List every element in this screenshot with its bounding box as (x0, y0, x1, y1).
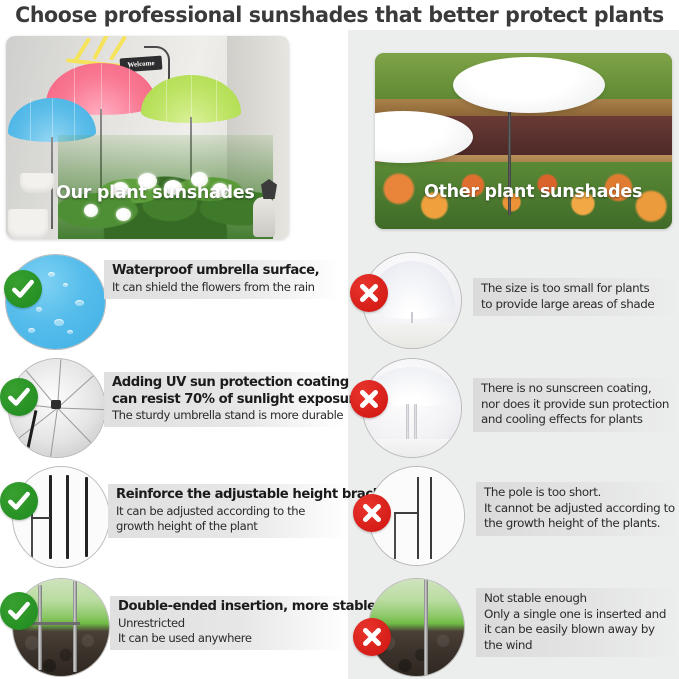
row-3-good-sub: It can be adjusted according to the (116, 504, 342, 519)
row-4-bad-line-2: Only a single one is inserted and (484, 607, 673, 623)
page-title: Choose professional sunshades that bette… (15, 1, 663, 30)
cross-icon (350, 274, 388, 312)
flower-pot (20, 173, 54, 193)
cross-icon (353, 494, 391, 532)
row-2-bad-line-3: and cooling effects for plants (481, 412, 673, 428)
row-2-bad-line-1: There is no sunscreen coating, (481, 381, 673, 397)
hero-image-our-sunshades: Welcome (6, 36, 289, 239)
row-1-good-text: Waterproof umbrella surface, It can shie… (104, 260, 340, 299)
row-2-good-heading-2: can resist 70% of sunlight exposure, (112, 392, 338, 409)
white-shade-disc (453, 57, 605, 113)
row-3-good-sub-2: growth height of the plant (116, 519, 342, 534)
check-icon (4, 270, 42, 308)
row-1-bad-text: The size is too small for plants to prov… (473, 278, 679, 316)
row-4-good-sub: Unrestricted (118, 616, 342, 631)
row-2-bad-line-2: nor does it provide sun protection (481, 397, 673, 413)
row-1-good-heading: Waterproof umbrella surface, (112, 263, 334, 280)
row-2-good-sub: The sturdy umbrella stand is more durabl… (112, 408, 338, 423)
row-1-bad-cell: The size is too small for plants to prov… (348, 252, 679, 356)
row-4-bad-line-4: the wind (484, 638, 673, 654)
comparison-row-1: Waterproof umbrella surface, It can shie… (0, 252, 679, 356)
row-4-bad-line-1: Not stable enough (484, 591, 673, 607)
row-4-bad-text: Not stable enough Only a single one is i… (476, 588, 679, 657)
row-3-good-text: Reinforce the adjustable height bracket.… (108, 484, 348, 538)
comparison-row-2: Adding UV sun protection coating can res… (0, 358, 679, 464)
row-1-good-cell: Waterproof umbrella surface, It can shie… (0, 252, 348, 356)
row-4-good-heading: Double-ended insertion, more stable (118, 599, 342, 616)
row-2-bad-text: There is no sunscreen coating, nor does … (473, 378, 679, 432)
row-1-bad-line-2: to provide large areas of shade (481, 297, 673, 313)
check-icon (0, 378, 38, 416)
hero-caption-right: Other plant sunshades (424, 182, 642, 202)
row-4-bad-line-3: it can be easily blown away by (484, 622, 673, 638)
hero-caption-left: Our plant sunshades (56, 183, 254, 203)
row-3-bad-line-2: It cannot be adjusted according to (484, 501, 673, 517)
check-icon (0, 482, 38, 520)
row-2-good-text: Adding UV sun protection coating can res… (104, 372, 344, 427)
cross-icon (350, 380, 388, 418)
row-2-bad-cell: There is no sunscreen coating, nor does … (348, 358, 679, 464)
row-1-good-sub: It can shield the flowers from the rain (112, 280, 334, 295)
row-1-bad-line-1: The size is too small for plants (481, 281, 673, 297)
row-3-good-heading: Reinforce the adjustable height bracket. (116, 487, 342, 504)
row-3-bad-line-1: The pole is too short. (484, 485, 673, 501)
row-3-bad-text: The pole is too short. It cannot be adju… (476, 482, 679, 536)
row-2-good-cell: Adding UV sun protection coating can res… (0, 358, 348, 464)
check-icon (0, 592, 38, 630)
row-4-good-cell: Double-ended insertion, more stable Unre… (0, 578, 348, 679)
row-3-bad-line-3: the growth height of the plants. (484, 516, 673, 532)
cross-icon (353, 618, 391, 656)
row-4-bad-cell: Not stable enough Only a single one is i… (348, 578, 679, 679)
comparison-row-3: Reinforce the adjustable height bracket.… (0, 466, 679, 576)
flower-pot (8, 209, 48, 239)
hero-image-other-sunshades (375, 53, 672, 229)
row-4-good-text: Double-ended insertion, more stable Unre… (110, 596, 348, 650)
infographic-page: Choose professional sunshades that bette… (0, 0, 679, 679)
garden-statue (253, 197, 275, 237)
row-3-bad-cell: The pole is too short. It cannot be adju… (348, 466, 679, 576)
row-2-good-heading: Adding UV sun protection coating (112, 375, 338, 392)
row-3-good-cell: Reinforce the adjustable height bracket.… (0, 466, 348, 576)
comparison-row-4: Double-ended insertion, more stable Unre… (0, 578, 679, 679)
row-4-good-sub-2: It can be used anywhere (118, 631, 342, 646)
